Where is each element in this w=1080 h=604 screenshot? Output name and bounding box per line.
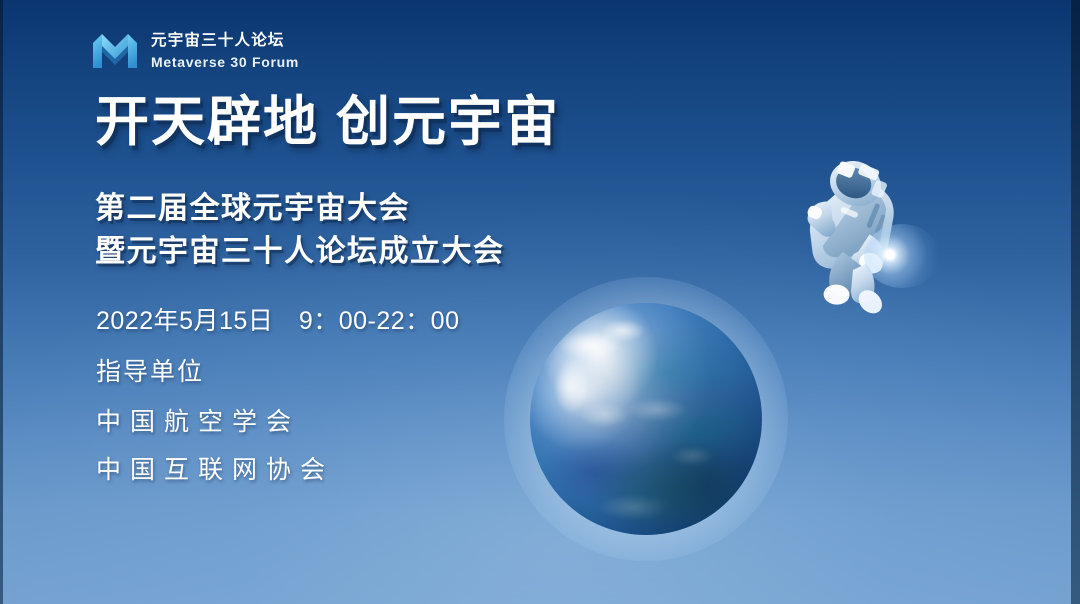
earth-globe bbox=[530, 303, 762, 535]
organization-item: 中国互联网协会 bbox=[96, 455, 459, 486]
event-poster: 元宇宙三十人论坛 Metaverse 30 Forum 开天辟地 创元宇宙 第二… bbox=[0, 0, 1080, 604]
astronaut-figure bbox=[776, 152, 938, 320]
organization-item: 中国航空学会 bbox=[96, 407, 459, 438]
earth-shading bbox=[530, 303, 762, 535]
brand-name-en: Metaverse 30 Forum bbox=[151, 53, 299, 71]
guidance-label: 指导单位 bbox=[96, 357, 459, 388]
astronaut-icon bbox=[776, 152, 938, 320]
earth-sphere bbox=[530, 303, 762, 535]
poster-subheadline: 第二届全球元宇宙大会 暨元宇宙三十人论坛成立大会 bbox=[95, 188, 505, 273]
subheadline-line-1: 第二届全球元宇宙大会 bbox=[95, 188, 505, 231]
brand-lockup: 元宇宙三十人论坛 Metaverse 30 Forum bbox=[92, 30, 299, 72]
frame-edge-left bbox=[0, 0, 3, 604]
brand-text-block: 元宇宙三十人论坛 Metaverse 30 Forum bbox=[151, 31, 299, 71]
event-date-time: 2022年5月15日 9：00-22：00 bbox=[96, 306, 459, 337]
brand-name-cn: 元宇宙三十人论坛 bbox=[151, 31, 299, 50]
poster-headline: 开天辟地 创元宇宙 bbox=[95, 92, 560, 152]
event-details: 2022年5月15日 9：00-22：00 指导单位 中国航空学会 中国互联网协… bbox=[96, 306, 459, 503]
metaverse-m-logo-icon bbox=[92, 30, 138, 72]
subheadline-line-2: 暨元宇宙三十人论坛成立大会 bbox=[95, 231, 505, 274]
frame-edge-right bbox=[1071, 0, 1080, 604]
